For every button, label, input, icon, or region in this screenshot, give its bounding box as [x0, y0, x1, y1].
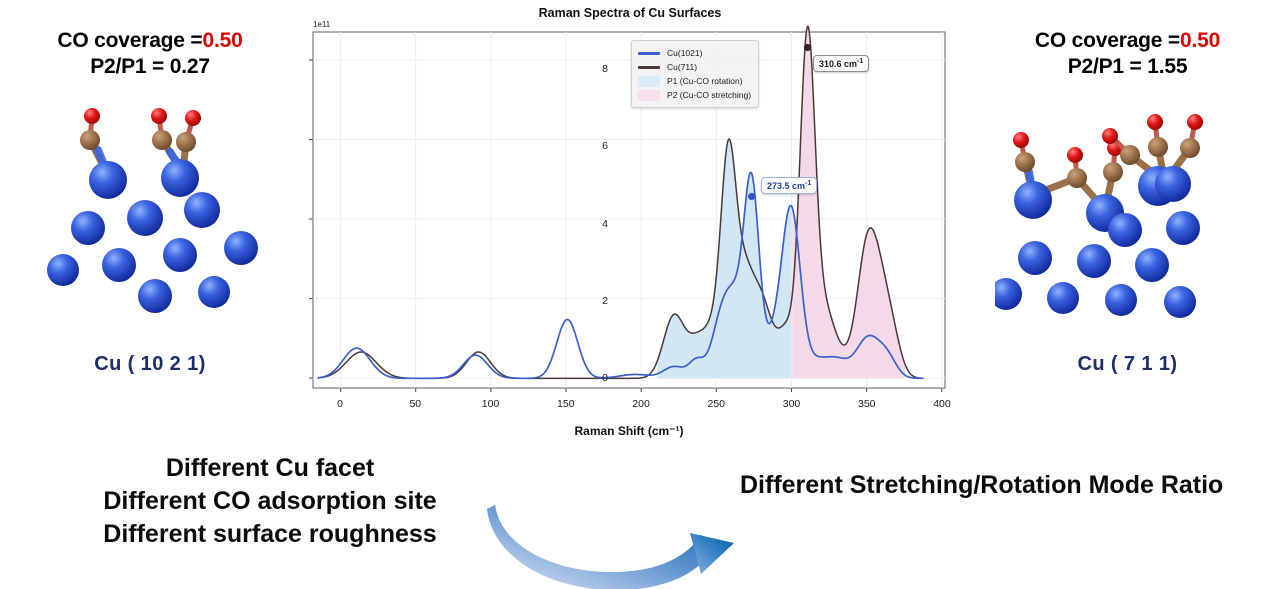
y-tick-label: 6 [596, 140, 608, 152]
bottom-left-statements: Different Cu facet Different CO adsorpti… [60, 452, 480, 551]
right-molecular-model [995, 100, 1245, 325]
x-tick-label: 400 [933, 398, 951, 410]
x-tick-label: 350 [858, 398, 876, 410]
x-tick-label: 0 [337, 398, 343, 410]
annotation-310-sup: -1 [857, 58, 863, 65]
bottom-right-statement: Different Stretching/Rotation Mode Ratio [740, 471, 1275, 500]
left-facet-label: Cu ( 10 2 1) [10, 353, 290, 376]
chart-legend[interactable]: Cu(1021) Cu(711) P1 (Cu-CO rotation) P2 … [631, 40, 759, 108]
annotation-peak-310: 310.6 cm-1 [813, 55, 869, 72]
legend-label-cu711: Cu(711) [667, 62, 697, 72]
legend-label-cu1021: Cu(1021) [667, 48, 702, 58]
x-axis-label: Raman Shift (cm⁻¹) [313, 424, 945, 438]
right-structure-panel: CO coverage =0.50 P2/P1 = 1.55 [985, 28, 1270, 388]
legend-swatch-p2 [638, 90, 660, 101]
legend-swatch-cu711 [638, 66, 660, 69]
left-coverage-value: 0.50 [202, 29, 242, 52]
right-ratio-line: P2/P1 = 1.55 [985, 54, 1270, 80]
x-tick-label: 150 [557, 398, 575, 410]
legend-item: Cu(711) [638, 60, 751, 74]
right-coverage-heading: CO coverage =0.50 P2/P1 = 1.55 [985, 28, 1270, 79]
y-tick-label: 4 [596, 218, 608, 230]
legend-label-p1: P1 (Cu-CO rotation) [667, 76, 743, 86]
left-ratio-line: P2/P1 = 0.27 [10, 54, 290, 80]
annotation-273-sup: -1 [805, 180, 811, 187]
peak-marker-dot [748, 193, 755, 200]
x-tick-label: 200 [632, 398, 650, 410]
y-tick-label: 0 [596, 372, 608, 384]
legend-swatch-p1 [638, 76, 660, 87]
legend-label-p2: P2 (Cu-CO stretching) [667, 90, 751, 100]
annotation-310-text: 310.6 cm [819, 59, 857, 69]
left-coverage-label: CO coverage = [57, 29, 202, 52]
annotation-273-text: 273.5 cm [767, 181, 805, 191]
right-coverage-label: CO coverage = [1035, 29, 1180, 52]
right-coverage-value: 0.50 [1180, 29, 1220, 52]
bottom-left-line-1: Different Cu facet [60, 452, 480, 485]
annotation-peak-273: 273.5 cm-1 [761, 177, 817, 194]
legend-item: Cu(1021) [638, 46, 751, 60]
legend-item: P2 (Cu-CO stretching) [638, 88, 751, 102]
legend-item: P1 (Cu-CO rotation) [638, 74, 751, 88]
peak-marker-dot [804, 44, 811, 51]
bottom-left-line-3: Different surface roughness [60, 518, 480, 551]
x-tick-label: 100 [482, 398, 500, 410]
raman-chart-panel: Raman Spectra of Cu Surfaces 1e11 Intens… [300, 0, 960, 448]
legend-swatch-cu1021 [638, 52, 660, 55]
y-tick-label: 2 [596, 295, 608, 307]
left-coverage-heading: CO coverage =0.50 P2/P1 = 0.27 [10, 28, 290, 79]
left-molecular-model [28, 100, 278, 325]
x-tick-label: 300 [783, 398, 801, 410]
y-tick-label: 8 [596, 63, 608, 75]
curved-transition-arrow [485, 495, 750, 589]
left-structure-panel: CO coverage =0.50 P2/P1 = 0.27 [10, 28, 290, 388]
x-tick-label: 50 [409, 398, 421, 410]
bottom-left-line-2: Different CO adsorption site [60, 485, 480, 518]
right-facet-label: Cu ( 7 1 1) [985, 353, 1270, 376]
x-tick-label: 250 [708, 398, 726, 410]
